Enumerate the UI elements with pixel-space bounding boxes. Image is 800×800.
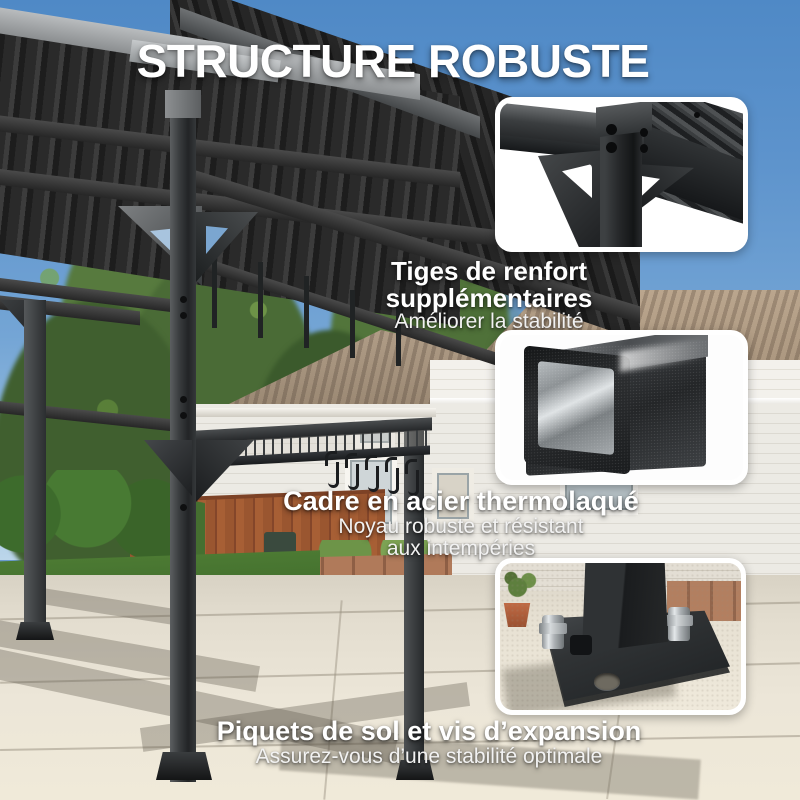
house-eave-secondary [196, 408, 436, 417]
feature-subtitle-line2: aux intempéries [122, 538, 800, 560]
feature-title-line2: supplémentaires [178, 285, 800, 312]
post-base-plate [16, 622, 54, 640]
feature-inset-ground-anchors [495, 558, 746, 715]
feature-subtitle: Assurez-vous d’une stabilité optimale [58, 746, 800, 768]
inset-image-corner-bracket [500, 102, 743, 247]
post-bolt [180, 396, 187, 403]
anchor-nut [570, 635, 592, 655]
pergola-post [170, 92, 196, 782]
post-bolt [180, 412, 187, 419]
s-hook-icon [328, 462, 339, 488]
expansion-bolt [668, 607, 690, 641]
bolt-hole [640, 128, 648, 137]
feature-caption-ground-anchors: Piquets de sol et vis d’expansion Assure… [0, 718, 800, 768]
feature-title: Piquets de sol et vis d’expansion [58, 718, 800, 746]
bolt-hole [606, 124, 617, 135]
feature-caption-reinforcement-rods: Tiges de renfort supplémentaires Amélior… [0, 258, 800, 333]
bolt-hole [606, 142, 617, 153]
page-title: STRUCTURE ROBUSTE [0, 34, 800, 88]
product-feature-image: STRUCTURE ROBUSTE Tiges de renfort suppl… [0, 0, 800, 800]
feature-title: Cadre en acier thermolaqué [122, 488, 800, 516]
bolt-hole [640, 144, 648, 153]
inset-image-square-tube [500, 335, 743, 480]
pergola-post-cap [165, 90, 201, 118]
feature-inset-reinforcement-rods [495, 97, 748, 252]
pergola-post [24, 300, 46, 630]
anchor-hole [594, 673, 620, 690]
feature-caption-steel-frame: Cadre en acier thermolaqué Noyau robuste… [0, 488, 800, 560]
inset-image-base-plate [500, 563, 741, 710]
steel-post [582, 563, 668, 653]
expansion-bolt [542, 615, 564, 649]
feature-subtitle: Noyau robuste et résistant [122, 516, 800, 538]
feature-inset-steel-frame [495, 330, 748, 485]
feature-title: Tiges de renfort [178, 258, 800, 285]
bolt-hole [694, 112, 700, 118]
